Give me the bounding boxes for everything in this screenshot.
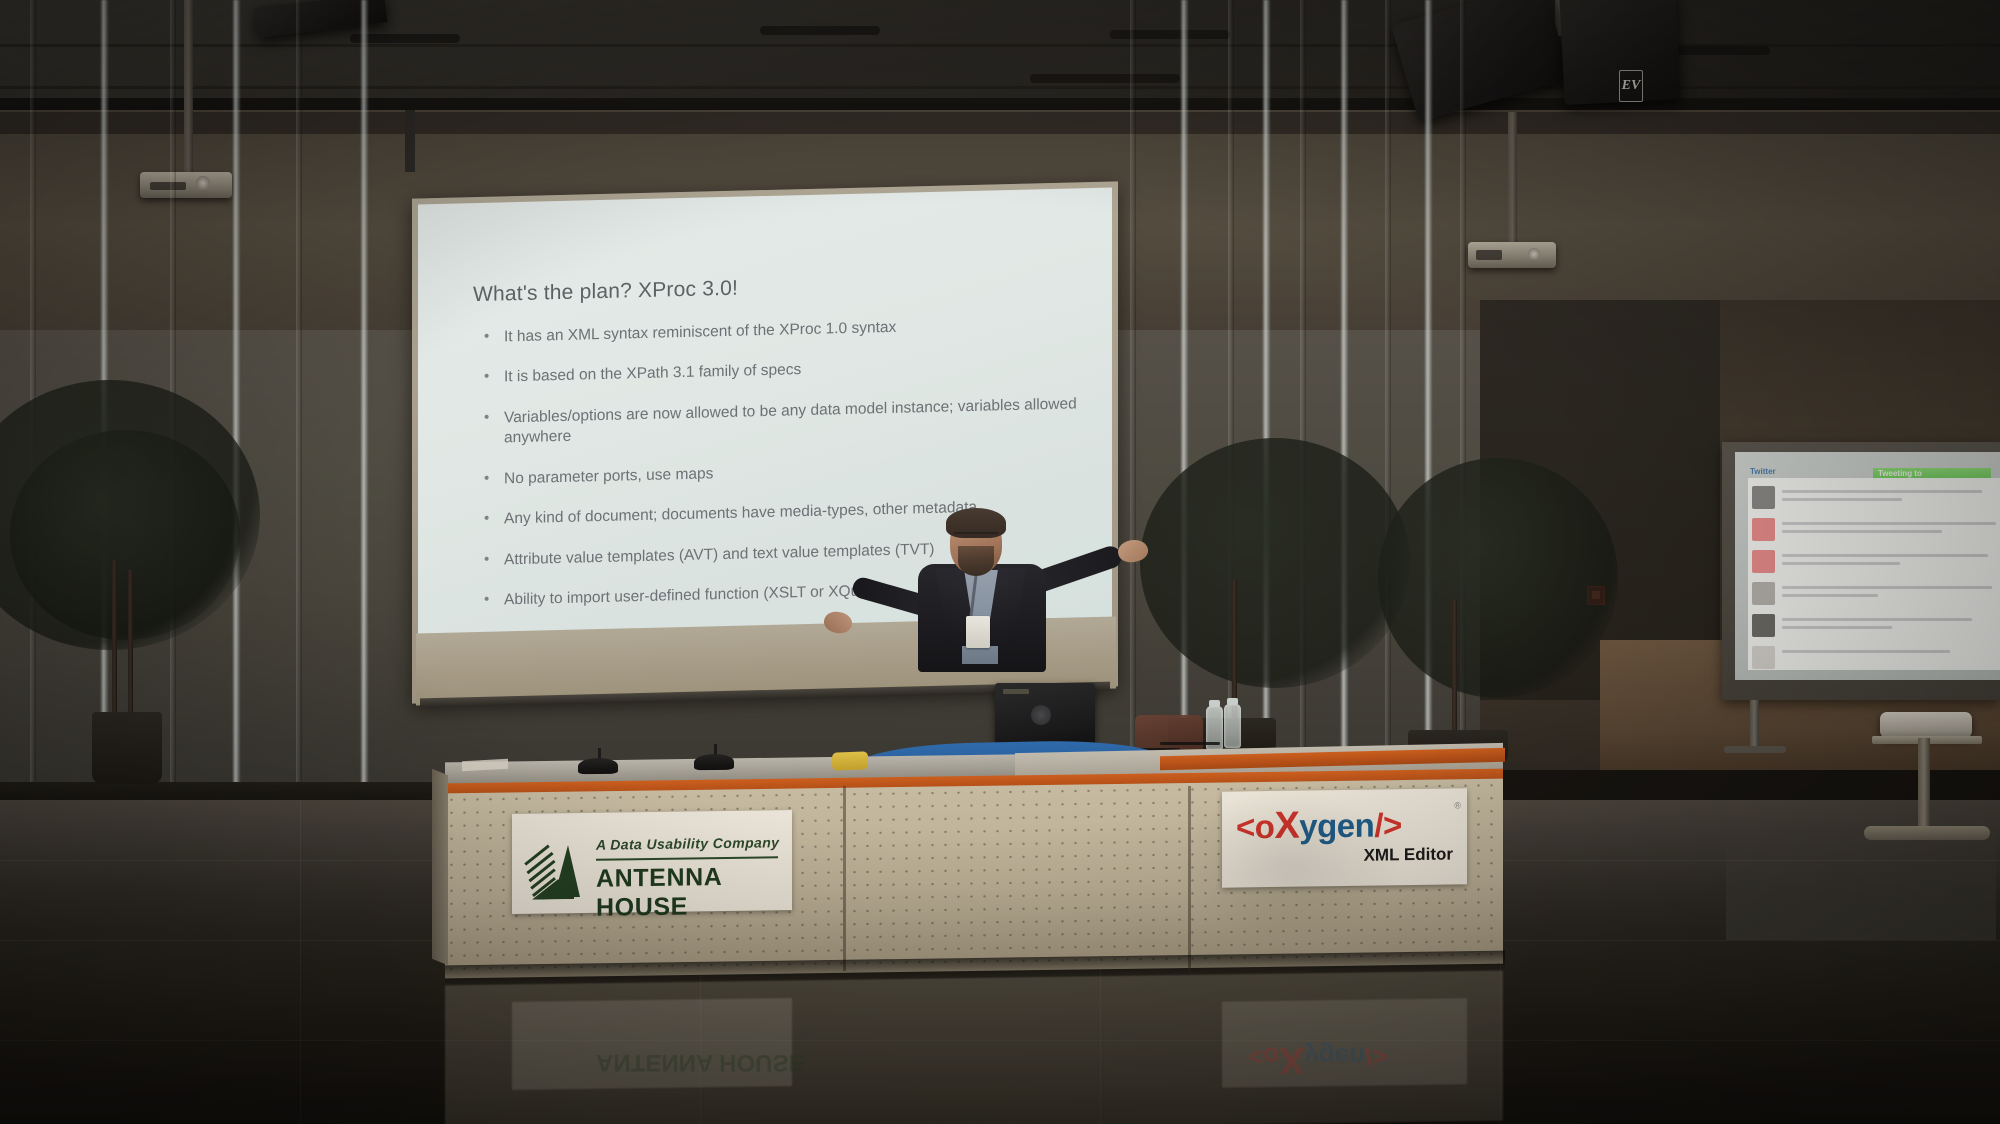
plant-trunk-left bbox=[128, 570, 133, 720]
projector-pole-right bbox=[1508, 112, 1517, 246]
plant-reflection-right bbox=[1180, 790, 1400, 940]
oxygen-reflection-word: ygen bbox=[1304, 1042, 1365, 1072]
slide-bullet: Variables/options are now allowed to be … bbox=[480, 394, 1080, 450]
feed-text-line bbox=[1782, 562, 1900, 565]
feed-avatar bbox=[1752, 550, 1775, 573]
microphone-base bbox=[578, 758, 618, 775]
feed-text-line bbox=[1782, 530, 1942, 533]
desk-cable bbox=[1160, 742, 1220, 745]
presenter-glasses bbox=[954, 532, 998, 541]
secondary-screen-brand: Twitter bbox=[1750, 467, 1776, 476]
feed-avatar bbox=[1752, 646, 1775, 669]
ceiling-vent bbox=[1110, 30, 1230, 39]
water-bottle bbox=[1224, 704, 1241, 748]
sponsor-panel-antenna-house: A Data Usability Company ANTENNA HOUSE bbox=[512, 810, 792, 914]
presenter bbox=[880, 512, 1080, 662]
feed-text-line bbox=[1782, 618, 1972, 621]
plant-foliage-center bbox=[1140, 438, 1410, 688]
auditorium-photo: EV bbox=[0, 0, 2000, 1124]
feed-text-line bbox=[1782, 522, 1996, 525]
feed-text-line bbox=[1782, 490, 1982, 493]
presenter-beard bbox=[958, 546, 994, 576]
feed-text-line bbox=[1782, 594, 1878, 597]
dell-monitor bbox=[995, 683, 1095, 745]
ceiling-vent bbox=[760, 26, 880, 35]
presenter-badge bbox=[966, 616, 990, 648]
oxygen-registered-mark: ® bbox=[1454, 800, 1461, 810]
antenna-house-text-reflection: ANTENNA HOUSE bbox=[596, 1048, 804, 1076]
desk-left-side bbox=[432, 769, 448, 965]
projector-vent bbox=[150, 182, 186, 190]
projector-vent bbox=[1476, 250, 1502, 260]
slide-bullet: It is based on the XPath 3.1 family of s… bbox=[480, 354, 1080, 389]
feed-avatar bbox=[1752, 486, 1775, 509]
screen-housing bbox=[405, 110, 415, 172]
antenna-house-rule bbox=[596, 856, 778, 861]
desk-panel-seam bbox=[843, 786, 846, 971]
secondary-screen-reflection bbox=[1726, 830, 1996, 940]
antenna-house-tagline: A Data Usability Company bbox=[596, 834, 779, 853]
plant-trunk-left bbox=[112, 560, 117, 720]
floor-projector bbox=[1880, 712, 1972, 738]
plant-foliage-right bbox=[1378, 458, 1618, 698]
feed-avatar bbox=[1752, 518, 1775, 541]
water-bottle-cap bbox=[1227, 698, 1238, 705]
microphone-base bbox=[694, 754, 734, 771]
plant-reflection-left bbox=[40, 800, 260, 960]
plant-trunk-right bbox=[1452, 600, 1457, 740]
antenna-house-mark-icon bbox=[526, 839, 586, 900]
secondary-screen-banner-text: Tweeting to bbox=[1878, 469, 1922, 478]
secondary-screen-foot bbox=[1724, 746, 1786, 753]
secondary-screen-stand bbox=[1750, 700, 1759, 748]
feed-avatar bbox=[1752, 582, 1775, 605]
feed-avatar bbox=[1752, 614, 1775, 637]
antenna-house-panel-reflection bbox=[512, 998, 792, 1090]
tape-dispenser bbox=[832, 751, 868, 770]
feed-text-line bbox=[1782, 650, 1950, 653]
monitor-brand-logo bbox=[1031, 705, 1051, 725]
slide-bullet: It has an XML syntax reminiscent of the … bbox=[480, 313, 1080, 348]
oxygen-reflection-bracket: <o bbox=[1248, 1042, 1279, 1072]
projector-pole-left bbox=[184, 0, 193, 174]
projector-stand-column bbox=[1918, 738, 1930, 830]
oxygen-reflection-x: X bbox=[1279, 1039, 1304, 1081]
oxygen-text-reflection: <oXygen/> bbox=[1248, 1038, 1388, 1081]
projector-lens-left bbox=[196, 176, 210, 190]
ceiling-vent bbox=[1030, 74, 1180, 83]
plant-foliage-left bbox=[10, 430, 240, 640]
monitor-label-strip bbox=[1003, 689, 1029, 694]
feed-text-line bbox=[1782, 554, 1988, 557]
feed-text-line bbox=[1782, 586, 1992, 589]
feed-text-line bbox=[1782, 626, 1892, 629]
antenna-house-name: ANTENNA HOUSE bbox=[596, 862, 792, 923]
water-bottle-cap bbox=[1209, 700, 1220, 707]
slide-title: What's the plan? XProc 3.0! bbox=[473, 277, 738, 307]
secondary-screen-feed bbox=[1748, 478, 2000, 670]
projector-lens-right bbox=[1528, 248, 1540, 260]
slide-bullet: No parameter ports, use maps bbox=[480, 455, 1080, 490]
oxygen-reflection-bracket-close: /> bbox=[1365, 1042, 1387, 1072]
speaker-brand-badge: EV bbox=[1619, 70, 1643, 102]
plant-pot-left bbox=[92, 712, 162, 784]
feed-text-line bbox=[1782, 498, 1902, 501]
